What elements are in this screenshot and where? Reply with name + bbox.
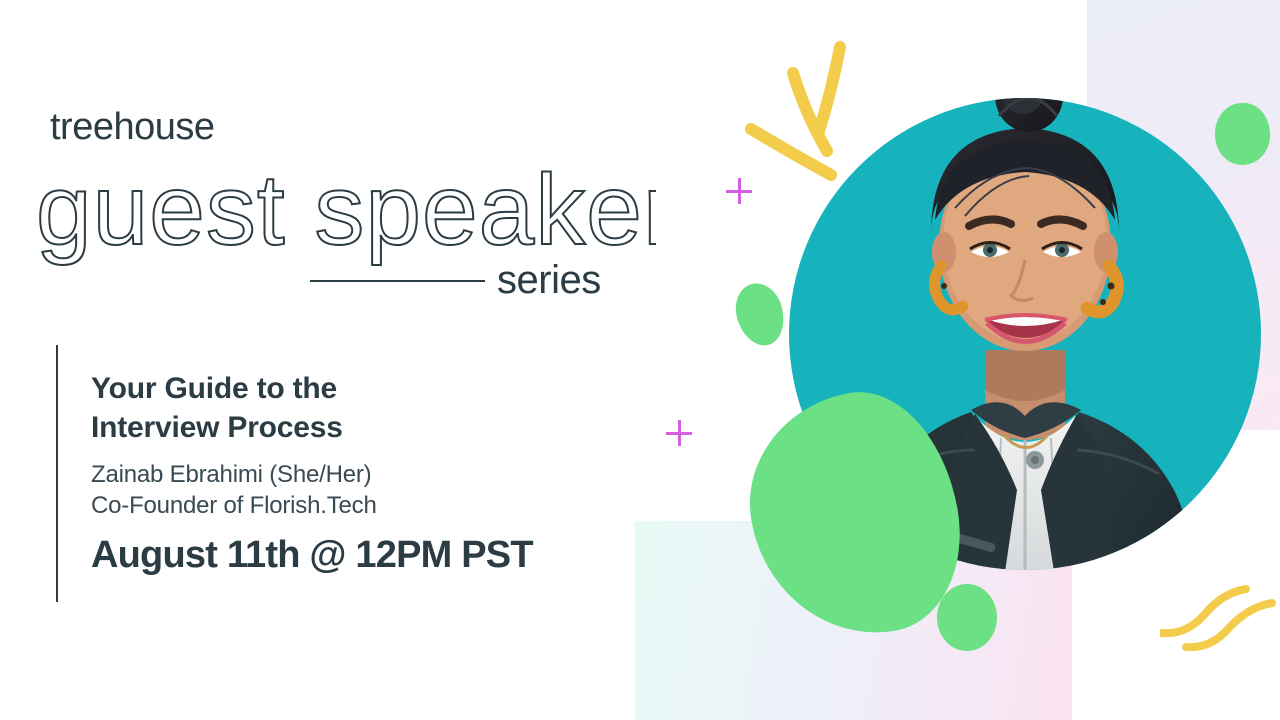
- brand-wordmark: treehouse: [50, 106, 215, 149]
- talk-title-line-2: Interview Process: [91, 408, 521, 447]
- hero-outline-title-text: guest speaker: [36, 154, 656, 266]
- green-blob-bottom-dot: [937, 584, 997, 651]
- series-divider-rule: [310, 280, 485, 282]
- content-column: treehouse guest speaker series Your Guid…: [0, 0, 660, 720]
- talk-title: Your Guide to the Interview Process: [91, 369, 521, 447]
- hero-outline-title: guest speaker: [36, 152, 656, 272]
- speaker-role: Co-Founder of Florish.Tech: [91, 492, 377, 520]
- yellow-sparkle-strokes-icon: [735, 35, 925, 225]
- talk-title-line-1: Your Guide to the: [91, 369, 521, 408]
- event-date-time: August 11th @ 12PM PST: [91, 534, 533, 577]
- green-blob-left-pill: [729, 278, 791, 351]
- speaker-name: Zainab Ebrahimi (She/Her): [91, 461, 371, 489]
- pink-plus-icon-middle: [666, 420, 692, 446]
- yellow-wavy-lines-icon: [1160, 585, 1280, 675]
- vertical-accent-rule: [56, 345, 58, 602]
- series-label: series: [497, 258, 601, 303]
- pink-plus-icon-top: [726, 178, 752, 204]
- promo-banner: treehouse guest speaker series Your Guid…: [0, 0, 1280, 720]
